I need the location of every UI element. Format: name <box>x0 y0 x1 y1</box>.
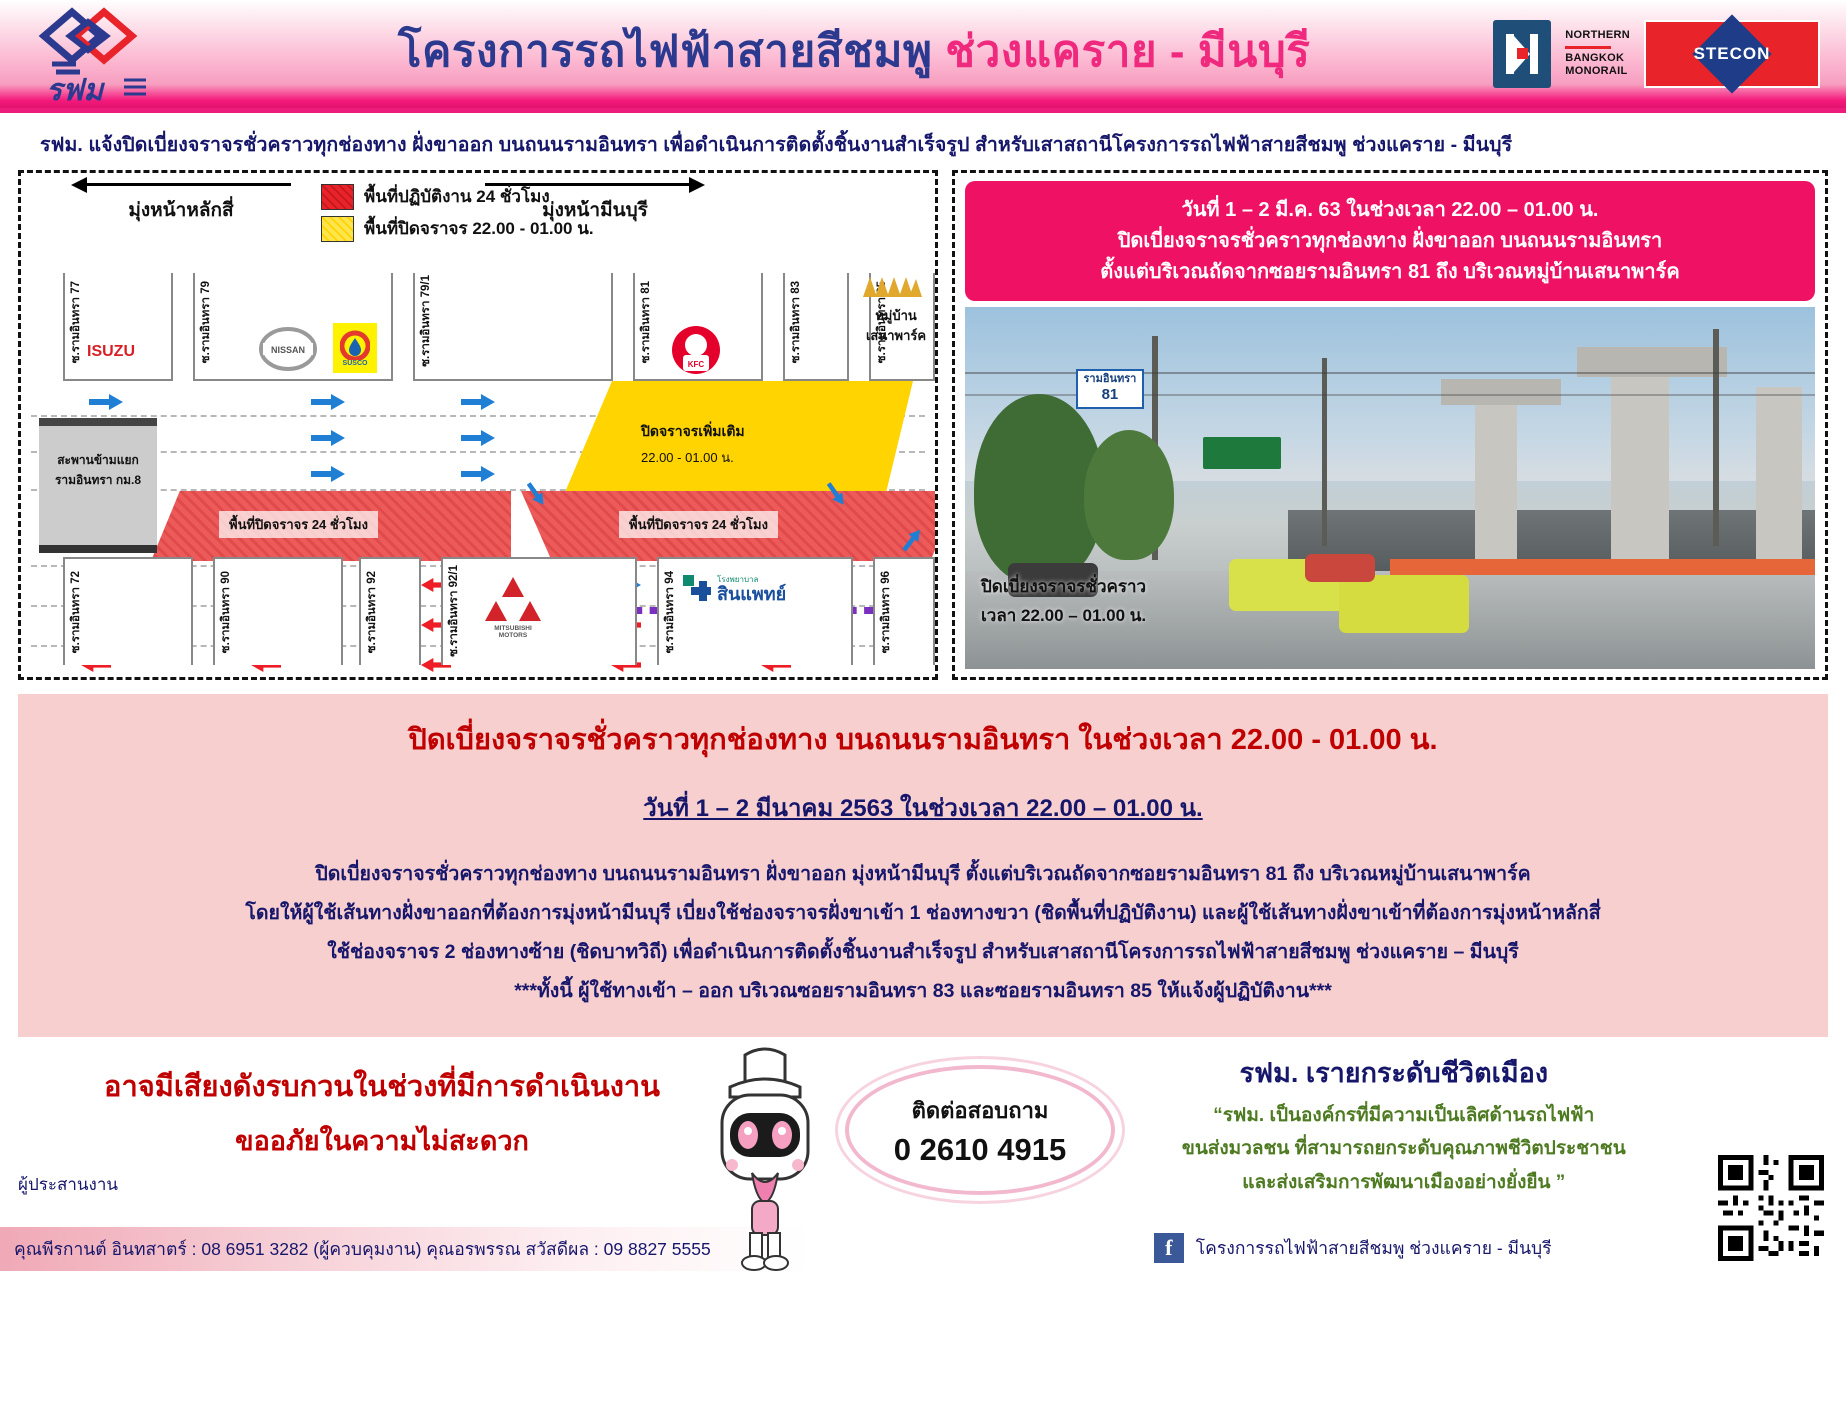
soi-label-top-79-1: ซ.รามอินทรา 79/1 <box>417 275 435 367</box>
brand-kfc-icon: KFC <box>671 325 721 375</box>
photo-pole-3 <box>1713 329 1719 546</box>
soi-blocks-bottom: ซ.รามอินทรา 72 ซ.รามอินทรา 90 ซ.รามอินทร… <box>21 557 935 677</box>
info-paragraph-3: ใช้ช่องจราจร 2 ช่องทางซ้าย (ชิดบาทวิถี) … <box>38 933 1808 972</box>
legend-label-closed-area: พื้นที่ปิดจราจร 22.00 - 01.00 น. <box>364 215 594 242</box>
header-logos: NORTHERN BANGKOK MONORAIL STECON <box>1493 20 1846 88</box>
yellow-note-line1: ปิดจราจรเพิ่มเติม <box>641 421 745 443</box>
closure-info-block: ปิดเบี่ยงจราจรชั่วคราวทุกช่องทาง บนถนนรา… <box>18 694 1828 1037</box>
photo-soi-sign-line1: รามอินทรา <box>1084 373 1137 387</box>
nbm-divider <box>1565 46 1611 49</box>
soi-label-bot-72: ซ.รามอินทรา 72 <box>67 571 85 653</box>
photo-panel: วันที่ 1 – 2 มี.ค. 63 ในช่วงเวลา 22.00 –… <box>952 170 1828 680</box>
contact-label: ติดต่อสอบถาม <box>912 1093 1049 1128</box>
photo-tree-2 <box>1084 430 1174 560</box>
page-title-blue: โครงการรถไฟฟ้าสายสีชมพู <box>398 27 933 76</box>
mascot-robot-icon <box>690 1041 840 1271</box>
arrow-blue-right-icon <box>461 393 495 411</box>
svg-text:รฟม: รฟม <box>46 74 105 107</box>
flyover-bridge: สะพานข้ามแยก รามอินทรา กม.8 <box>39 418 157 553</box>
photo-soi-sign: รามอินทรา 81 <box>1076 369 1145 410</box>
red-note-right: พื้นที่ปิดจราจร 24 ชั่วโมง <box>619 511 778 538</box>
svg-text:MOTORS: MOTORS <box>499 632 528 637</box>
arrow-blue-right-icon <box>461 429 495 447</box>
nbm-line-2: BANGKOK <box>1565 52 1630 66</box>
mrta-logo: รฟม <box>0 0 215 108</box>
direction-left: มุ่งหน้าหลักสี่ <box>71 177 291 225</box>
soi-label-bot-92: ซ.รามอินทรา 92 <box>363 571 381 653</box>
red-note-left: พื้นที่ปิดจราจร 24 ชั่วโมง <box>219 511 378 538</box>
photo-barrier <box>1390 559 1815 575</box>
soi-label-bot-92-1: ซ.รามอินทรา 92/1 <box>445 565 463 657</box>
stecon-label: STECON <box>1694 44 1771 64</box>
quote-line-1: “รฟม. เป็นองค์กรที่มีความเป็นเลิศด้านรถไ… <box>1154 1099 1654 1132</box>
soi-label-top-83: ซ.รามอินทรา 83 <box>787 281 805 363</box>
arrow-head-left-icon <box>71 177 87 193</box>
mrta-vision-quote: “รฟม. เป็นองค์กรที่มีความเป็นเลิศด้านรถไ… <box>1154 1099 1654 1199</box>
svg-text:KFC: KFC <box>688 360 705 369</box>
photo-car-red <box>1305 554 1375 582</box>
map-legend: พื้นที่ปฏิบัติงาน 24 ชั่วโมง พื้นที่ปิดจ… <box>321 183 594 247</box>
soi-label-top-81: ซ.รามอินทรา 81 <box>637 281 655 363</box>
direction-left-label: มุ่งหน้าหลักสี่ <box>71 195 291 225</box>
village-label-line2: เสนาพาร์ค <box>855 325 937 346</box>
legend-item-closed-area: พื้นที่ปิดจราจร 22.00 - 01.00 น. <box>321 215 594 242</box>
footer-right: รฟม. เรายกระดับชีวิตเมือง “รฟม. เป็นองค์… <box>1034 1041 1846 1289</box>
nbm-logo-text: NORTHERN BANGKOK MONORAIL <box>1565 29 1630 79</box>
page-title: โครงการรถไฟฟ้าสายสีชมพู ช่วงแคราย - มีนบ… <box>215 29 1493 79</box>
closure-banner: วันที่ 1 – 2 มี.ค. 63 ในช่วงเวลา 22.00 –… <box>965 181 1815 301</box>
facebook-row[interactable]: f โครงการรถไฟฟ้าสายสีชมพู ช่วงแคราย - มี… <box>1154 1233 1552 1263</box>
banner-line-1: วันที่ 1 – 2 มี.ค. 63 ในช่วงเวลา 22.00 –… <box>1182 195 1599 226</box>
arrow-blue-right-icon <box>311 429 345 447</box>
arrow-blue-right-icon <box>461 465 495 483</box>
nbm-line-3: MONORAIL <box>1565 65 1630 79</box>
bridge-label-line2: รามอินทรา กม.8 <box>39 470 157 490</box>
info-paragraph-1: ปิดเบี่ยงจราจรชั่วคราวทุกช่องทาง บนถนนรา… <box>38 855 1808 894</box>
coordinator-contacts: คุณพีรกานต์ อินทสาตร์ : 08 6951 3282 (ผู… <box>14 1235 711 1263</box>
noise-notice-line2: ขออภัยในความไม่สะดวก <box>72 1119 692 1162</box>
legend-label-work-area: พื้นที่ปฏิบัติงาน 24 ชั่วโมง <box>364 183 550 210</box>
traffic-map: มุ่งหน้าหลักสี่ มุ่งหน้ามีนบุรี พื้นที่ป… <box>21 173 935 677</box>
brand-nissan-icon: NISSAN <box>259 325 317 373</box>
photo-taxi-2 <box>1339 575 1469 633</box>
nbm-logo-mark <box>1493 20 1551 88</box>
arrow-blue-right-icon <box>89 393 123 411</box>
coordinator-bar: คุณพีรกานต์ อินทสาตร์ : 08 6951 3282 (ผู… <box>0 1227 810 1271</box>
soi-block-top-2 <box>413 273 613 381</box>
facebook-icon[interactable]: f <box>1154 1233 1184 1263</box>
legend-swatch-yellow-icon <box>321 216 354 242</box>
soi-blocks-top: ซ.รามอินทรา 77 ซ.รามอินทรา 79 ซ.รามอินทร… <box>21 273 935 383</box>
photo-pier-3 <box>1756 387 1802 561</box>
photo-soi-sign-line2: 81 <box>1084 386 1137 405</box>
arrow-blue-right-icon <box>311 465 345 483</box>
arrow-blue-right-icon <box>311 393 345 411</box>
page-header: รฟม โครงการรถไฟฟ้าสายสีชมพู ช่วงแคราย - … <box>0 0 1846 113</box>
brand-synphaet-hospital: โรงพยาบาล สินแพทย์ <box>681 573 786 607</box>
soi-label-top-77: ซ.รามอินทรา 77 <box>67 281 85 363</box>
announcement-subtitle: รฟม. แจ้งปิดเบี่ยงจราจรชั่วคราวทุกช่องทา… <box>0 113 1846 170</box>
roadway: ปิดจราจรเพิ่มเติม 22.00 - 01.00 น. พื้นท… <box>21 381 935 561</box>
photo-pier-1 <box>1475 394 1517 561</box>
bridge-label-line1: สะพานข้ามแยก <box>39 450 157 470</box>
hospital-cross-icon <box>681 573 711 607</box>
brand-mitsubishi-icon: MITSUBISHI MOTORS <box>483 571 543 637</box>
nbm-line-1: NORTHERN <box>1565 29 1630 43</box>
legend-swatch-red-icon <box>321 184 354 210</box>
photo-overhead-sign <box>1203 437 1281 469</box>
legend-item-work-area: พื้นที่ปฏิบัติงาน 24 ชั่วโมง <box>321 183 594 210</box>
banner-line-2: ปิดเบี่ยงจราจรชั่วคราวทุกช่องทาง ฝั่งขาอ… <box>1118 226 1663 257</box>
svg-text:MITSUBISHI: MITSUBISHI <box>494 625 532 632</box>
soi-label-bot-94: ซ.รามอินทรา 94 <box>661 571 679 653</box>
info-paragraph-4: ***ทั้งนี้ ผู้ใช้ทางเข้า – ออก บริเวณซอย… <box>38 972 1808 1011</box>
banner-line-3: ตั้งแต่บริเวณถัดจากซอยรามอินทรา 81 ถึง บ… <box>1100 257 1679 288</box>
quote-line-3: และส่งเสริมการพัฒนาเมืองอย่างยั่งยืน ” <box>1154 1166 1654 1199</box>
mrta-slogan: รฟม. เรายกระดับชีวิตเมือง <box>1154 1051 1634 1094</box>
content-row: มุ่งหน้าหลักสี่ มุ่งหน้ามีนบุรี พื้นที่ป… <box>0 170 1846 680</box>
soi-label-bot-90: ซ.รามอินทรา 90 <box>217 571 235 653</box>
photo-girder-1 <box>1441 379 1561 405</box>
coordinator-label: ผู้ประสานงาน <box>18 1171 118 1198</box>
direction-left-arrow-icon <box>71 177 291 191</box>
qr-code-icon[interactable] <box>1718 1155 1824 1261</box>
facebook-page-name[interactable]: โครงการรถไฟฟ้าสายสีชมพู ช่วงแคราย - มีนบ… <box>1196 1234 1552 1262</box>
arrow-head-right-icon <box>689 177 705 193</box>
brand-susco-icon: SUSCO <box>333 323 377 373</box>
photo-caption: ปิดเบี่ยงจราจรชั่วคราว เวลา 22.00 – 01.0… <box>981 573 1146 631</box>
info-heading: ปิดเบี่ยงจราจรชั่วคราวทุกช่องทาง บนถนนรา… <box>38 716 1808 762</box>
village-label-line1: หมู่บ้าน <box>861 305 931 326</box>
svg-text:NISSAN: NISSAN <box>271 345 305 355</box>
brand-isuzu: ISUZU <box>87 343 135 361</box>
yellow-note-line2: 22.00 - 01.00 น. <box>641 447 734 468</box>
stecon-logo: STECON <box>1644 20 1820 88</box>
page-footer: อาจมีเสียงดังรบกวนในช่วงที่มีการดำเนินงา… <box>0 1041 1846 1289</box>
site-photo: รามอินทรา 81 ปิดเบี่ยงจราจรชั่วคราว เวลา… <box>965 307 1815 669</box>
photo-pole-2 <box>1322 358 1327 546</box>
noise-notice-line1: อาจมีเสียงดังรบกวนในช่วงที่มีการดำเนินงา… <box>72 1063 692 1109</box>
photo-caption-line2: เวลา 22.00 – 01.00 น. <box>981 602 1146 631</box>
quote-line-2: ขนส่งมวลชน ที่สามารถยกระดับคุณภาพชีวิตปร… <box>1154 1132 1654 1165</box>
village-roof-icon <box>861 271 923 301</box>
soi-label-top-79: ซ.รามอินทรา 79 <box>197 281 215 363</box>
page-title-pink: ช่วงแคราย - มีนบุรี <box>945 27 1310 76</box>
info-subheading: วันที่ 1 – 2 มีนาคม 2563 ในช่วงเวลา 22.0… <box>38 788 1808 827</box>
info-paragraph-2: โดยให้ผู้ใช้เส้นทางฝั่งขาออกที่ต้องการมุ… <box>38 894 1808 933</box>
soi-label-bot-96: ซ.รามอินทรา 96 <box>877 571 895 653</box>
traffic-map-panel: มุ่งหน้าหลักสี่ มุ่งหน้ามีนบุรี พื้นที่ป… <box>18 170 938 680</box>
photo-caption-line1: ปิดเบี่ยงจราจรชั่วคราว <box>981 573 1146 602</box>
